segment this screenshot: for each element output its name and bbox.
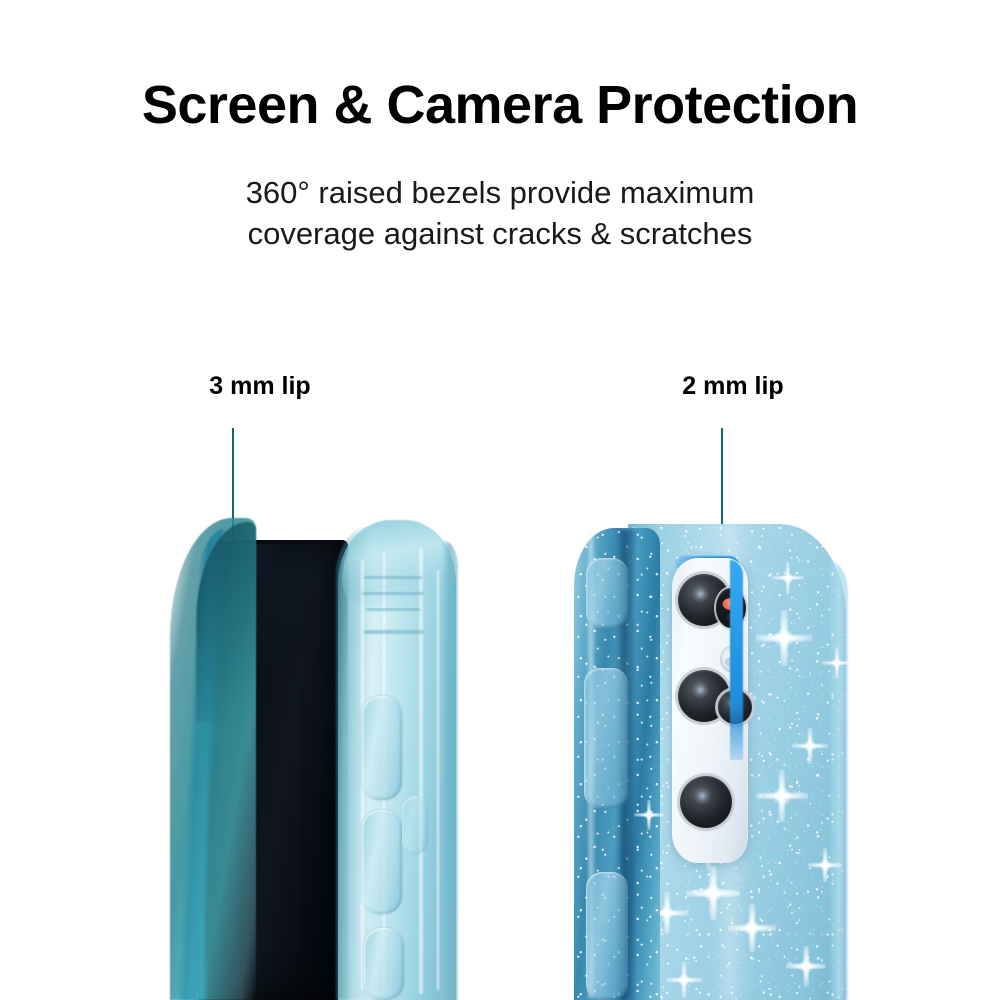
subtitle-line-1: 360° raised bezels provide maximum xyxy=(0,172,1000,213)
case-top-notch-1 xyxy=(364,576,422,579)
case-button-bump-4 xyxy=(402,796,428,854)
case-top-notch-2 xyxy=(362,592,424,595)
phone-rear-camera-profile xyxy=(560,500,860,1000)
case-button-bump-3 xyxy=(364,928,404,1000)
subtitle: 360° raised bezels provide maximum cover… xyxy=(0,172,1000,254)
rail-rib-3 xyxy=(418,548,424,994)
rear-case-button-bump-3 xyxy=(586,872,628,1000)
case-outer-rim xyxy=(442,540,458,1000)
case-top-notch-3 xyxy=(366,608,420,611)
case-button-bump-1 xyxy=(362,696,402,800)
camera-lip-accent-edge xyxy=(730,560,743,760)
case-top-notch-4 xyxy=(364,630,424,634)
case-button-bump-2 xyxy=(362,810,402,914)
callout-label-3mm-lip: 3 mm lip xyxy=(160,372,360,401)
product-feature-image: Screen & Camera Protection 360° raised b… xyxy=(0,0,1000,1000)
phone-front-edge-profile xyxy=(150,500,480,1000)
subtitle-line-2: coverage against cracks & scratches xyxy=(0,213,1000,254)
camera-lens-telephoto xyxy=(680,776,732,828)
rear-case-button-bump-2 xyxy=(584,668,628,808)
callout-label-2mm-lip: 2 mm lip xyxy=(633,372,833,401)
rail-rib-4 xyxy=(436,570,440,990)
page-title: Screen & Camera Protection xyxy=(0,78,1000,132)
case-right-rim xyxy=(828,560,848,1000)
rear-case-button-bump-1 xyxy=(586,558,628,628)
